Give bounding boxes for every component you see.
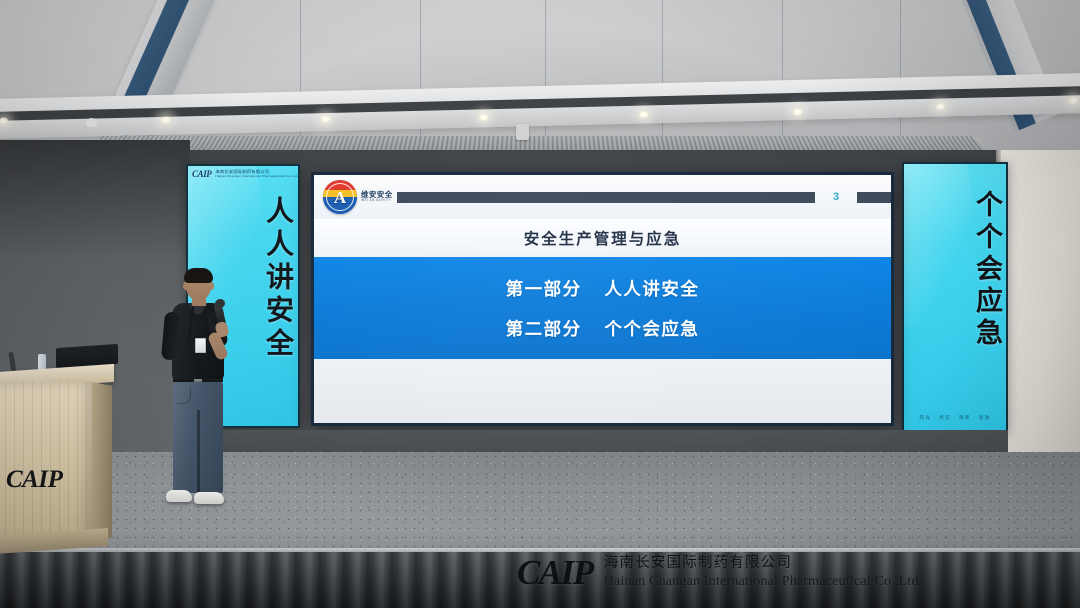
right-wall [1000,150,1080,470]
banner-right-slogan-wrap: 个个会应急 [904,190,1006,350]
ceiling-speaker [516,124,529,140]
podium: CAIP [0,346,114,560]
banner-left-slogan: 人人讲安全 [258,196,298,361]
slide-page-number: 3 [815,191,857,203]
slide-logo-name-en: WEI AN SAFETY [361,199,393,203]
banner-left-header: CAIP 海南长安国际制药有限公司 Hainan Changan Interna… [192,169,294,179]
caip-logo-text: CAIP [192,169,211,179]
slide-title-area: 安全生产管理与应急 [314,219,891,257]
company-name-en: Hainan Changan International Pharmaceuti… [215,175,298,178]
slide-blue-band: 第一部分 人人讲安全 第二部分 个个会应急 [314,257,891,359]
slide-agenda-item-1: 第一部分 人人讲安全 [506,276,700,301]
slide-title: 安全生产管理与应急 [524,227,682,249]
presentation-slide: A 维安安全 WEI AN SAFETY 3 安全生产管理与应急 第一部分 人人… [314,175,891,423]
slide-footer-area [314,359,891,423]
podium-caip-logo: CAIP [6,466,62,494]
led-screen[interactable]: A 维安安全 WEI AN SAFETY 3 安全生产管理与应急 第一部分 人人… [311,172,894,426]
slide-header-rule [397,192,815,203]
presenter-leg-seam [197,410,200,494]
presenter [150,270,242,520]
slide-agenda-item-2: 第二部分 个个会应急 [506,316,700,341]
bottom-company-name-en: Hainan Changan International Pharmaceuti… [604,573,923,590]
slide-logo: A 维安安全 WEI AN SAFETY [323,180,393,214]
podium-side-panel [92,382,112,538]
podium-front-panel: CAIP [0,382,92,540]
logo-letter: A [323,189,357,206]
bottom-banner-logo: CAIP 海南长安国际制药有限公司 Hainan Changan Interna… [517,555,922,590]
left-wall-shadow [0,140,190,260]
presenter-id-badge [195,338,206,353]
slide-header: A 维安安全 WEI AN SAFETY 3 [314,175,891,219]
presenter-shoe-right [194,492,224,504]
bottom-company-name-cn: 海南长安国际制药有限公司 [604,555,923,573]
banner-right-slogan: 个个会应急 [967,190,1006,350]
presenter-shoe-left [166,490,192,502]
bottom-caip-logo: CAIP [517,555,593,590]
slide-header-rule-right [857,192,891,203]
presenter-hair [184,268,213,283]
ceiling-camera [86,118,97,127]
microphone-head [214,298,226,309]
banner-right: 个个会应急 阳光 · 务实 · 简单 · 高效 [902,162,1008,432]
safety-badge-logo-icon: A [323,180,357,214]
photo-scene: CAIP 海南长安国际制药有限公司 Hainan Changan Interna… [0,0,1080,608]
banner-right-motto: 阳光 · 务实 · 简单 · 高效 [904,415,1006,421]
